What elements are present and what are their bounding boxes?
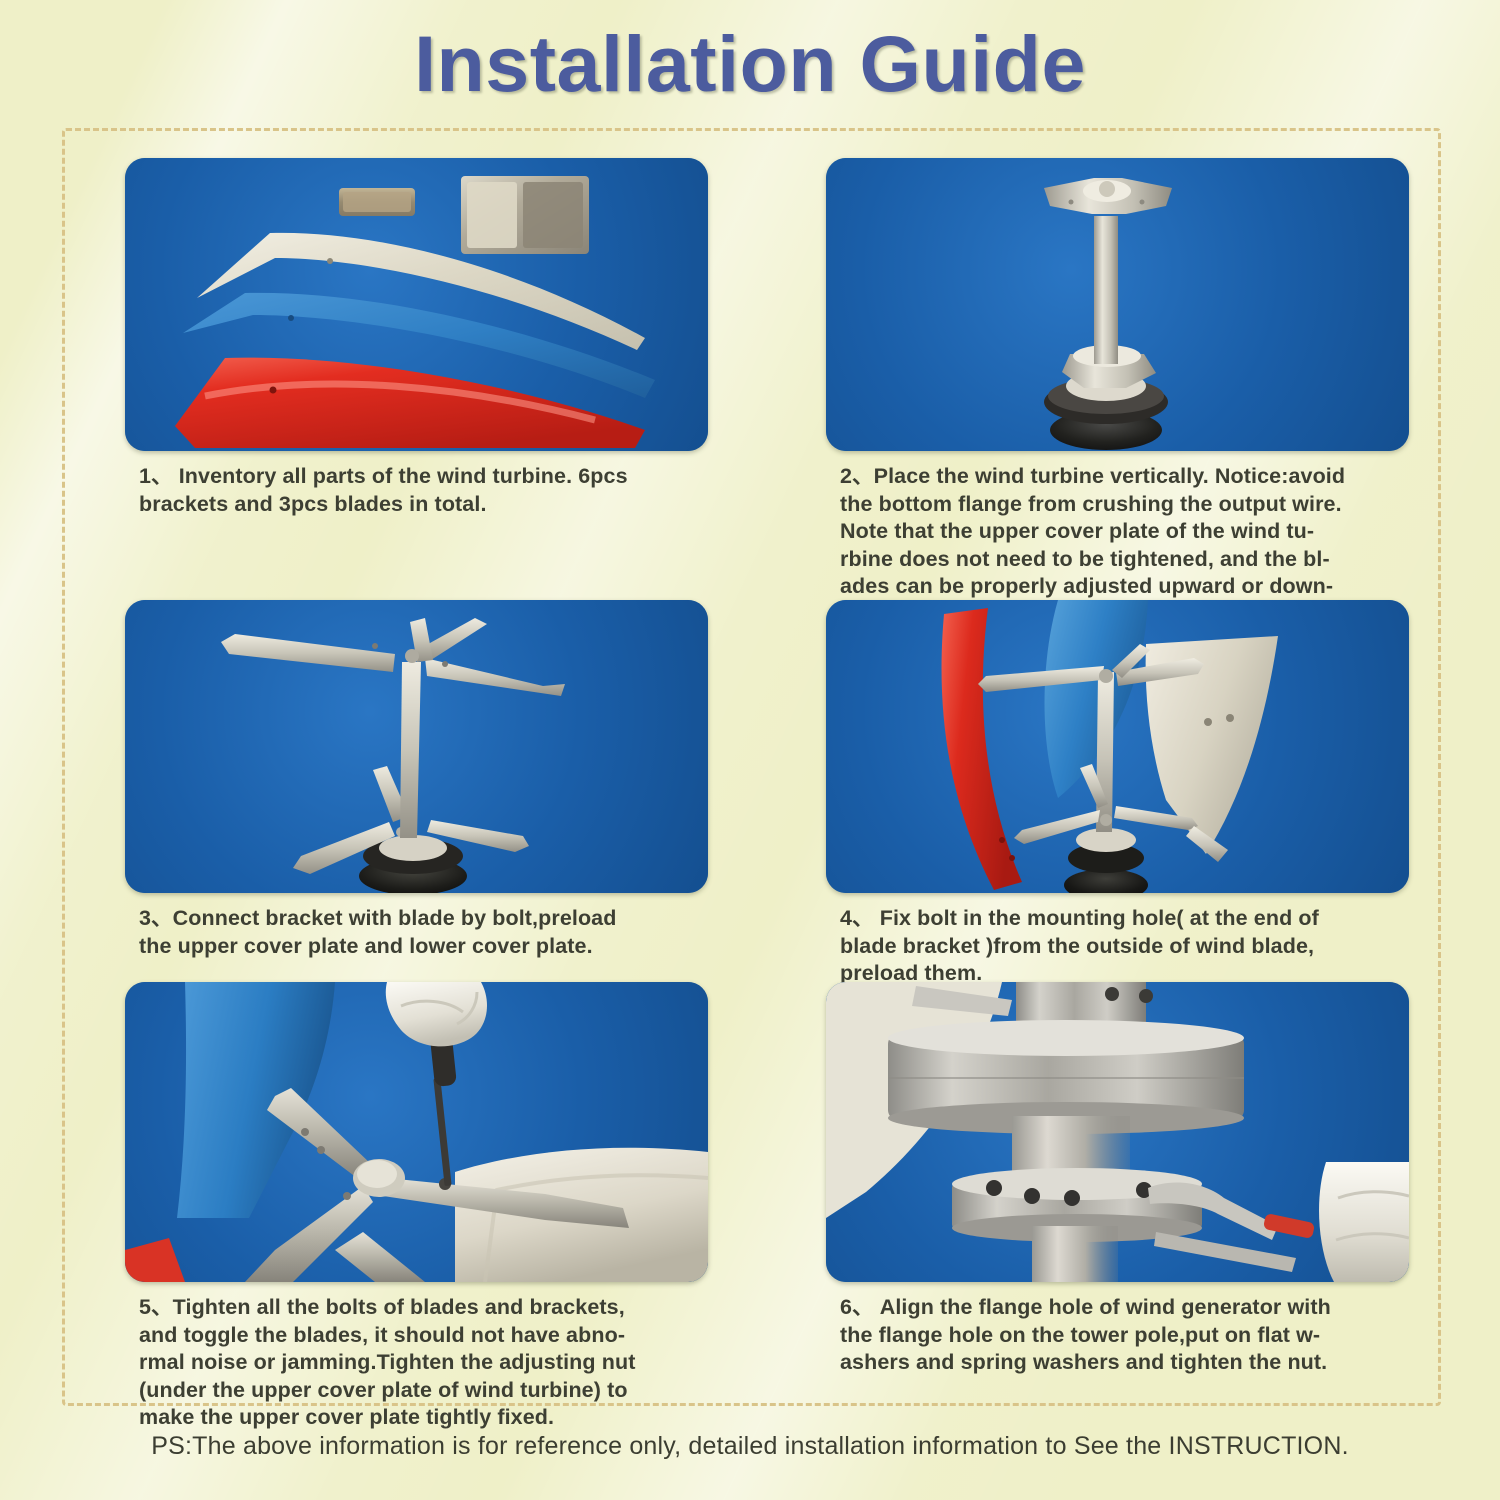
step-1-photo bbox=[125, 158, 708, 451]
upper-bracket-arms bbox=[221, 618, 565, 696]
blue-blade bbox=[177, 982, 335, 1218]
blades-mounted-illustration bbox=[826, 600, 1409, 893]
tower-pole bbox=[1032, 1226, 1118, 1282]
blue-blade bbox=[1045, 600, 1149, 798]
step-6-caption: 6、 Align the flange hole of wind generat… bbox=[826, 1294, 1409, 1377]
parts-layout-illustration bbox=[125, 158, 708, 451]
step-5-caption: 5、Tighten all the bolts of blades and br… bbox=[125, 1294, 708, 1432]
bracket-assembly-illustration bbox=[125, 600, 708, 893]
flange-alignment-illustration bbox=[826, 982, 1409, 1282]
step-6: 6、 Align the flange hole of wind generat… bbox=[826, 982, 1409, 1377]
step-2-photo bbox=[826, 158, 1409, 451]
red-blade bbox=[942, 608, 1022, 890]
red-blade bbox=[125, 1238, 185, 1282]
hardware-bag-large bbox=[461, 176, 589, 254]
screwdriver bbox=[429, 1025, 457, 1186]
step-3-caption: 3、Connect bracket with blade by bolt,pre… bbox=[125, 905, 708, 960]
hub-plate bbox=[353, 1159, 405, 1197]
gloved-hand bbox=[386, 982, 487, 1046]
step-3: 3、Connect bracket with blade by bolt,pre… bbox=[125, 600, 708, 960]
center-shaft bbox=[400, 662, 421, 838]
generator-base bbox=[1064, 828, 1148, 893]
step-2: 2、Place the wind turbine vertically. Not… bbox=[826, 158, 1409, 628]
steps-grid: 1、 Inventory all parts of the wind turbi… bbox=[125, 158, 1409, 1398]
step-1: 1、 Inventory all parts of the wind turbi… bbox=[125, 158, 708, 518]
upper-cover-plate bbox=[1044, 178, 1172, 214]
step-4-caption: 4、 Fix bolt in the mounting hole( at the… bbox=[826, 905, 1409, 988]
center-shaft bbox=[1094, 216, 1118, 364]
tightening-bolts-illustration bbox=[125, 982, 708, 1282]
gloved-hand bbox=[1319, 1162, 1409, 1282]
step-6-photo bbox=[826, 982, 1409, 1282]
step-3-photo bbox=[125, 600, 708, 893]
step-5-photo bbox=[125, 982, 708, 1282]
vertical-shaft-illustration bbox=[826, 158, 1409, 451]
installation-guide-page: Installation Guide bbox=[0, 0, 1500, 1500]
lower-hub bbox=[379, 835, 447, 861]
step-4-photo bbox=[826, 600, 1409, 893]
screw-bag-small bbox=[339, 188, 415, 216]
step-5: 5、Tighten all the bolts of blades and br… bbox=[125, 982, 708, 1432]
footer-note: PS:The above information is for referenc… bbox=[0, 1432, 1500, 1461]
step-1-caption: 1、 Inventory all parts of the wind turbi… bbox=[125, 463, 708, 518]
step-4: 4、 Fix bolt in the mounting hole( at the… bbox=[826, 600, 1409, 988]
page-title: Installation Guide bbox=[0, 18, 1500, 110]
